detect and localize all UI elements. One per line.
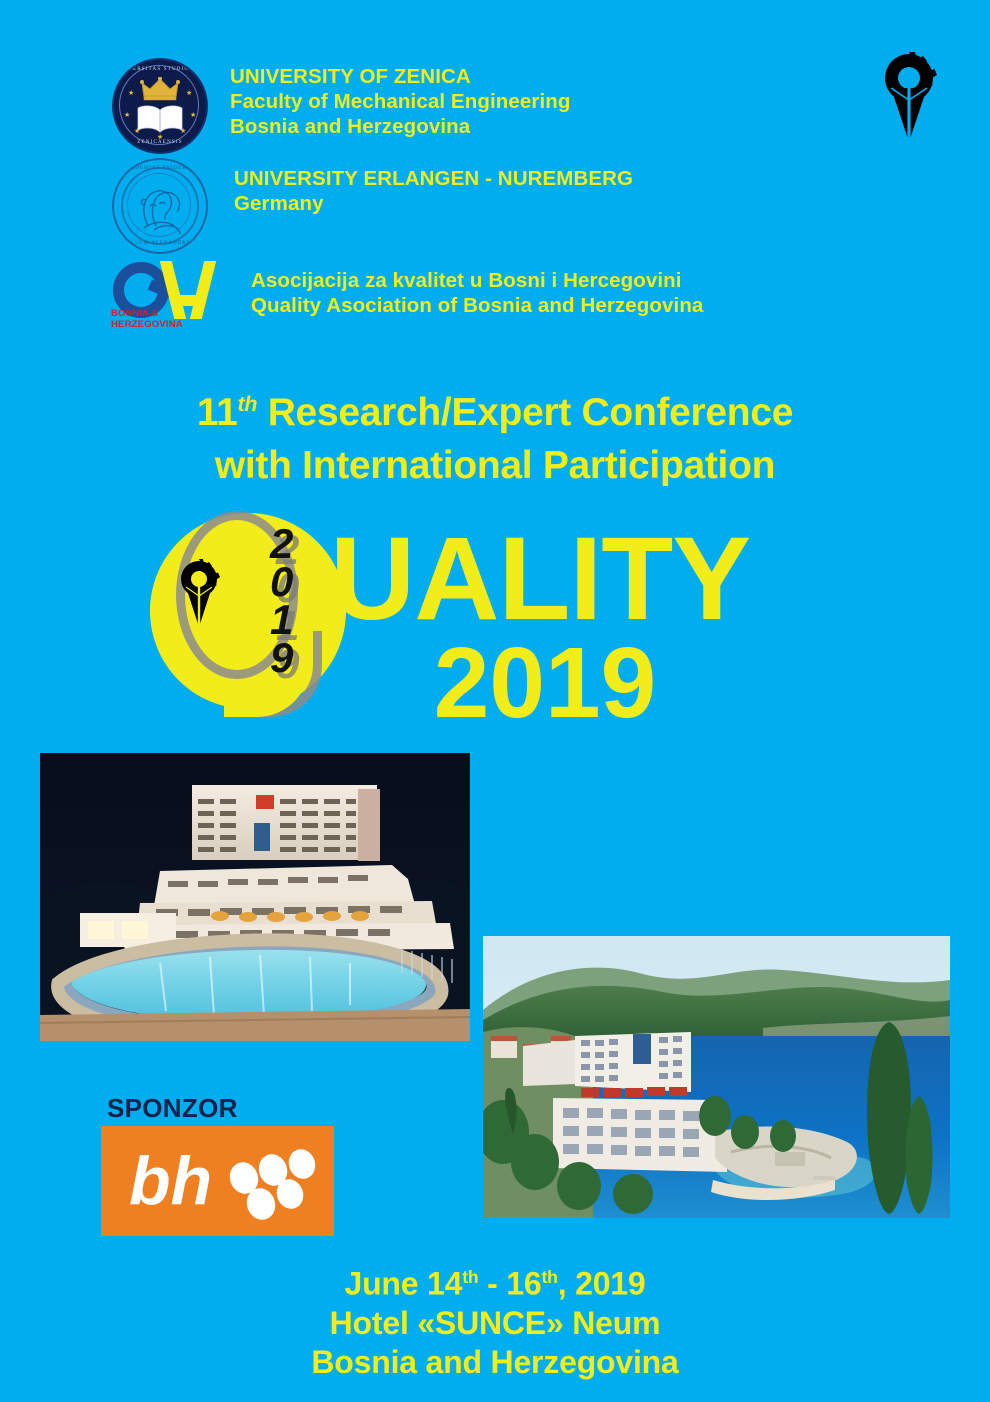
organizer-2-line-2: Germany [234,191,633,216]
conference-title: 11th Research/Expert Conference with Int… [0,378,990,492]
conference-edition-number: 11 [197,391,238,434]
hotel-sunce-night-pool-photo [40,753,470,1041]
event-date-ordinal-1: th [462,1267,478,1287]
organizer-3-text: Asocijacija za kvalitet u Bosni i Herceg… [251,258,703,318]
organizer-university-of-zenica: UNIVERSITAS STUDIORUM ZENICAENSIS ★ ★ ★ [112,58,570,154]
organizer-1-line-1: UNIVERSITY OF ZENICA [230,64,570,89]
university-erlangen-nuremberg-seal-icon: ACADEMIAE FRIDERICO SIGILLUM ALEXANDRINA… [112,158,208,254]
organizer-1-line-3: Bosnia and Herzegovina [230,114,570,139]
mechanical-engineering-gear-icon [866,48,952,144]
qa-letter-a-crossbar [175,295,201,306]
hotel-sunce-aerial-coast-photo [483,936,950,1218]
event-date-suffix: , 2019 [558,1266,646,1302]
event-date-ordinal-2: th [542,1267,558,1287]
conference-title-line-1: 11th Research/Expert Conference [0,378,990,439]
event-dates: June 14th - 16th, 2019 [0,1258,990,1304]
organizer-2-line-1: UNIVERSITY ERLANGEN - NUREMBERG [234,166,633,191]
conference-edition-ordinal: th [238,392,258,416]
organizer-3-line-2: Quality Asociation of Bosnia and Herzego… [251,293,703,318]
quality-association-bh-logo-icon: BOSNIA & HERZEGOVINA [105,258,233,328]
event-date-mid: - 16 [478,1266,541,1302]
organizer-3-line-1: Asocijacija za kvalitet u Bosni i Herceg… [251,268,703,293]
bh-logo-wordmark: bh [129,1143,212,1219]
organizer-university-erlangen-nuremberg: ACADEMIAE FRIDERICO SIGILLUM ALEXANDRINA… [112,158,633,254]
quality-word: UALITY [330,529,750,629]
event-venue: Hotel «SUNCE» Neum [0,1304,990,1343]
event-country: Bosnia and Herzegovina [0,1343,990,1382]
conference-title-line-2: with International Participation [0,439,990,492]
open-book-icon [136,104,184,134]
event-date-prefix: June 14 [344,1266,462,1302]
sponsor-label: SPONZOR [107,1093,238,1124]
quality-logotype: 2 0 1 9 UALITY 2019 [0,505,990,740]
qa-logo-subtitle: BOSNIA & HERZEGOVINA [111,308,233,330]
zenica-seal-ring-top-text: UNIVERSITAS STUDIORUM [114,67,206,72]
organizer-1-line-2: Faculty of Mechanical Engineering [230,89,570,114]
conference-poster: UNIVERSITAS STUDIORUM ZENICAENSIS ★ ★ ★ [0,0,990,1402]
twin-profile-portraits-icon [114,160,206,252]
organizer-quality-association-bh: BOSNIA & HERZEGOVINA Asocijacija za kval… [105,258,703,328]
organizer-2-text: UNIVERSITY ERLANGEN - NUREMBERG Germany [234,158,633,216]
bh-telecom-logo: bh [101,1126,334,1236]
gear-nib-icon [168,557,230,629]
organizer-1-text: UNIVERSITY OF ZENICA Faculty of Mechanic… [230,58,570,139]
conference-title-line-1-rest: Research/Expert Conference [257,391,793,434]
crown-icon [140,77,180,101]
university-of-zenica-seal-icon: UNIVERSITAS STUDIORUM ZENICAENSIS ★ ★ ★ [112,58,208,154]
event-details-footer: June 14th - 16th, 2019 Hotel «SUNCE» Neu… [0,1258,990,1382]
quality-year: 2019 [0,633,990,733]
